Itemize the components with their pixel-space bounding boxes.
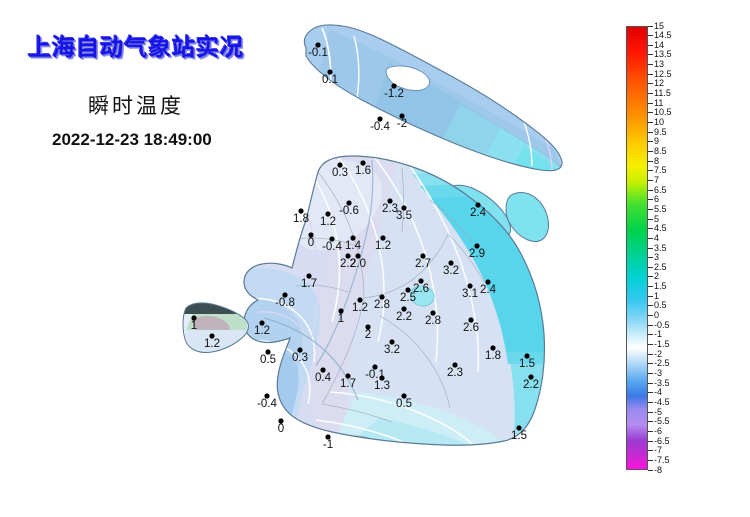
legend-tick-label: -4 — [654, 388, 662, 397]
legend-tick-mark — [648, 26, 653, 27]
station-temperature-label: 0 — [278, 423, 284, 435]
legend-tick-mark — [648, 64, 653, 65]
legend-tick-label: -8 — [654, 466, 662, 475]
legend: 1514.51413.51312.51211.51110.5109.598.58… — [626, 26, 736, 474]
legend-tick-mark — [648, 383, 653, 384]
legend-tick-mark — [648, 141, 653, 142]
legend-tick-label: 15 — [654, 22, 664, 31]
station-marker: -0.4 — [370, 116, 390, 133]
legend-tick-label: -0.5 — [654, 321, 670, 330]
station-temperature-label: -0.8 — [275, 297, 295, 309]
legend-tick-label: 12.5 — [654, 70, 672, 79]
station-temperature-label: 1.7 — [301, 278, 317, 290]
station-temperature-label: 2.9 — [469, 248, 485, 260]
station-temperature-label: 2.4 — [470, 207, 487, 219]
legend-tick-label: 0 — [654, 311, 659, 320]
legend-tick-mark — [648, 228, 653, 229]
station-marker: -0.4 — [257, 393, 277, 410]
station-temperature-label: -1.2 — [384, 88, 404, 100]
station-marker: 1 — [338, 308, 344, 325]
station-temperature-label: 1.2 — [352, 302, 368, 314]
legend-tick-mark — [648, 470, 653, 471]
page-title: 上海自动气象站实况 — [28, 28, 244, 62]
legend-tick-mark — [648, 344, 653, 345]
legend-tick-mark — [648, 161, 653, 162]
legend-tick-mark — [648, 45, 653, 46]
station-temperature-label: 1.2 — [320, 216, 336, 228]
legend-tick-label: 4.5 — [654, 224, 667, 233]
station-marker: 0.5 — [260, 349, 276, 366]
legend-tick-mark — [648, 122, 653, 123]
station-temperature-label: 2.8 — [425, 315, 441, 327]
station-temperature-label: 3.1 — [462, 288, 478, 300]
station-temperature-label: 1.3 — [374, 380, 390, 392]
legend-tick-label: 5.5 — [654, 205, 667, 214]
legend-tick-mark — [648, 431, 653, 432]
station-temperature-label: 2.3 — [447, 367, 463, 379]
station-temperature-label: 1.2 — [204, 338, 220, 350]
legend-tick-mark — [648, 441, 653, 442]
legend-tick-list: 1514.51413.51312.51211.51110.5109.598.58… — [648, 26, 736, 470]
legend-tick-label: 7.5 — [654, 166, 667, 175]
station-temperature-label: 2.8 — [374, 299, 390, 311]
station-marker: 0 — [308, 232, 314, 249]
legend-tick-label: -1.5 — [654, 340, 670, 349]
legend-tick-label: 1 — [654, 292, 659, 301]
station-temperature-label: 3.5 — [396, 210, 412, 222]
legend-tick-mark — [648, 170, 653, 171]
legend-tick-label: 11 — [654, 99, 663, 108]
legend-tick-mark — [648, 238, 653, 239]
legend-tick-mark — [648, 296, 653, 297]
station-temperature-label: -0.4 — [257, 398, 277, 410]
station-temperature-label: 0.3 — [292, 352, 308, 364]
legend-tick-label: 14.5 — [654, 31, 672, 40]
legend-tick-label: 13.5 — [654, 50, 672, 59]
station-marker: -1 — [323, 434, 333, 451]
station-temperature-label: 1.8 — [293, 213, 309, 225]
legend-tick-mark — [648, 248, 653, 249]
station-temperature-label: 0.3 — [332, 167, 348, 179]
station-marker: 2 — [365, 324, 371, 341]
legend-tick-label: 2 — [654, 272, 659, 281]
legend-tick-mark — [648, 74, 653, 75]
legend-tick-label: 11.5 — [654, 89, 671, 98]
legend-tick-mark — [648, 315, 653, 316]
station-temperature-label: -2 — [397, 118, 407, 130]
header: 上海自动气象站实况 瞬时温度 2022-12-23 18:49:00 — [0, 0, 330, 160]
station-temperature-label: 2 — [365, 329, 371, 341]
legend-tick-label: -7 — [654, 446, 662, 455]
station-temperature-label: 1.2 — [254, 325, 270, 337]
station-temperature-label: -1 — [323, 439, 333, 451]
legend-tick-mark — [648, 276, 653, 277]
legend-tick-label: 10.5 — [654, 108, 672, 117]
legend-tick-mark — [648, 286, 653, 287]
station-temperature-label: 1.8 — [485, 350, 501, 362]
station-temperature-label: 2.2 — [523, 379, 539, 391]
station-temperature-label: 2.0 — [350, 258, 366, 270]
legend-tick-label: 9.5 — [654, 128, 667, 137]
legend-tick-label: -5.5 — [654, 417, 670, 426]
legend-tick-label: -6 — [654, 427, 662, 436]
legend-tick-label: 14 — [654, 41, 664, 50]
station-temperature-label: 0.5 — [260, 354, 276, 366]
legend-tick-label: -1 — [654, 330, 662, 339]
station-temperature-label: 1.4 — [345, 240, 362, 252]
station-temperature-label: 0 — [308, 237, 314, 249]
station-temperature-label: -0.6 — [339, 205, 359, 217]
legend-tick-label: -3 — [654, 369, 662, 378]
legend-tick-label: -3.5 — [654, 379, 670, 388]
legend-tick-mark — [648, 83, 653, 84]
legend-tick-label: -2 — [654, 350, 662, 359]
legend-tick-mark — [648, 132, 653, 133]
legend-tick-mark — [648, 460, 653, 461]
legend-tick-label: 9 — [654, 137, 659, 146]
legend-tick-mark — [648, 35, 653, 36]
station-temperature-label: 1.5 — [511, 430, 527, 442]
legend-tick-mark — [648, 412, 653, 413]
legend-tick-label: 2.5 — [654, 263, 667, 272]
station-temperature-label: -0.4 — [322, 241, 342, 253]
legend-tick-mark — [648, 199, 653, 200]
station-temperature-label: 1 — [191, 320, 197, 332]
station-temperature-label: 0.5 — [396, 398, 412, 410]
station-temperature-label: 0.4 — [315, 372, 332, 384]
map-subtitle: 瞬时温度 — [88, 90, 184, 120]
legend-tick-mark — [648, 267, 653, 268]
legend-tick-label: 5 — [654, 215, 659, 224]
legend-tick-mark — [648, 54, 653, 55]
station-temperature-label: 1.2 — [375, 240, 391, 252]
legend-tick-mark — [648, 325, 653, 326]
station-temperature-label: 2.5 — [400, 292, 416, 304]
station-temperature-label: 2.4 — [480, 284, 497, 296]
legend-tick-label: 12 — [654, 79, 664, 88]
legend-tick-label: 1.5 — [654, 282, 667, 291]
station-marker: 1 — [191, 315, 197, 332]
legend-tick-label: 6.5 — [654, 186, 667, 195]
legend-tick-mark — [648, 421, 653, 422]
station-temperature-label: 2.7 — [415, 258, 431, 270]
station-temperature-label: 3.2 — [384, 344, 400, 356]
legend-tick-mark — [648, 112, 653, 113]
legend-tick-mark — [648, 334, 653, 335]
legend-tick-mark — [648, 392, 653, 393]
legend-tick-mark — [648, 402, 653, 403]
observation-timestamp: 2022-12-23 18:49:00 — [52, 130, 212, 150]
station-temperature-label: 1.6 — [355, 165, 371, 177]
legend-tick-label: 8.5 — [654, 147, 667, 156]
legend-tick-mark — [648, 93, 653, 94]
legend-tick-label: -7.5 — [654, 456, 670, 465]
legend-tick-label: -2.5 — [654, 359, 670, 368]
station-temperature-label: 2.6 — [463, 322, 479, 334]
legend-colorbar — [626, 26, 648, 470]
station-temperature-label: 3.2 — [443, 265, 459, 277]
station-temperature-label: 1.7 — [340, 378, 356, 390]
station-marker: 0 — [278, 418, 284, 435]
legend-tick-label: 10 — [654, 118, 664, 127]
station-temperature-label: -0.4 — [370, 121, 390, 133]
legend-tick-mark — [648, 151, 653, 152]
legend-tick-mark — [648, 363, 653, 364]
legend-tick-mark — [648, 450, 653, 451]
legend-tick-mark — [648, 354, 653, 355]
legend-tick-mark — [648, 103, 653, 104]
legend-tick-label: 3 — [654, 253, 659, 262]
legend-tick-label: 3.5 — [654, 244, 667, 253]
legend-tick-mark — [648, 190, 653, 191]
legend-tick-label: 0.5 — [654, 301, 667, 310]
legend-tick-label: -4.5 — [654, 398, 670, 407]
station-temperature-label: 1 — [338, 313, 344, 325]
legend-tick-mark — [648, 373, 653, 374]
legend-tick-mark — [648, 180, 653, 181]
legend-tick-mark — [648, 257, 653, 258]
legend-tick-label: 7 — [654, 176, 659, 185]
legend-tick-mark — [648, 219, 653, 220]
station-temperature-label: 1.5 — [519, 358, 535, 370]
legend-tick-label: 4 — [654, 234, 659, 243]
station-temperature-label: 2.2 — [396, 311, 412, 323]
legend-tick-mark — [648, 305, 653, 306]
legend-tick-label: 6 — [654, 195, 659, 204]
legend-tick-label: -5 — [654, 408, 662, 417]
station-marker: 1.8 — [293, 208, 309, 225]
legend-tick-label: 8 — [654, 157, 659, 166]
legend-tick-label: 13 — [654, 60, 664, 69]
legend-tick-label: -6.5 — [654, 437, 670, 446]
legend-tick-mark — [648, 209, 653, 210]
